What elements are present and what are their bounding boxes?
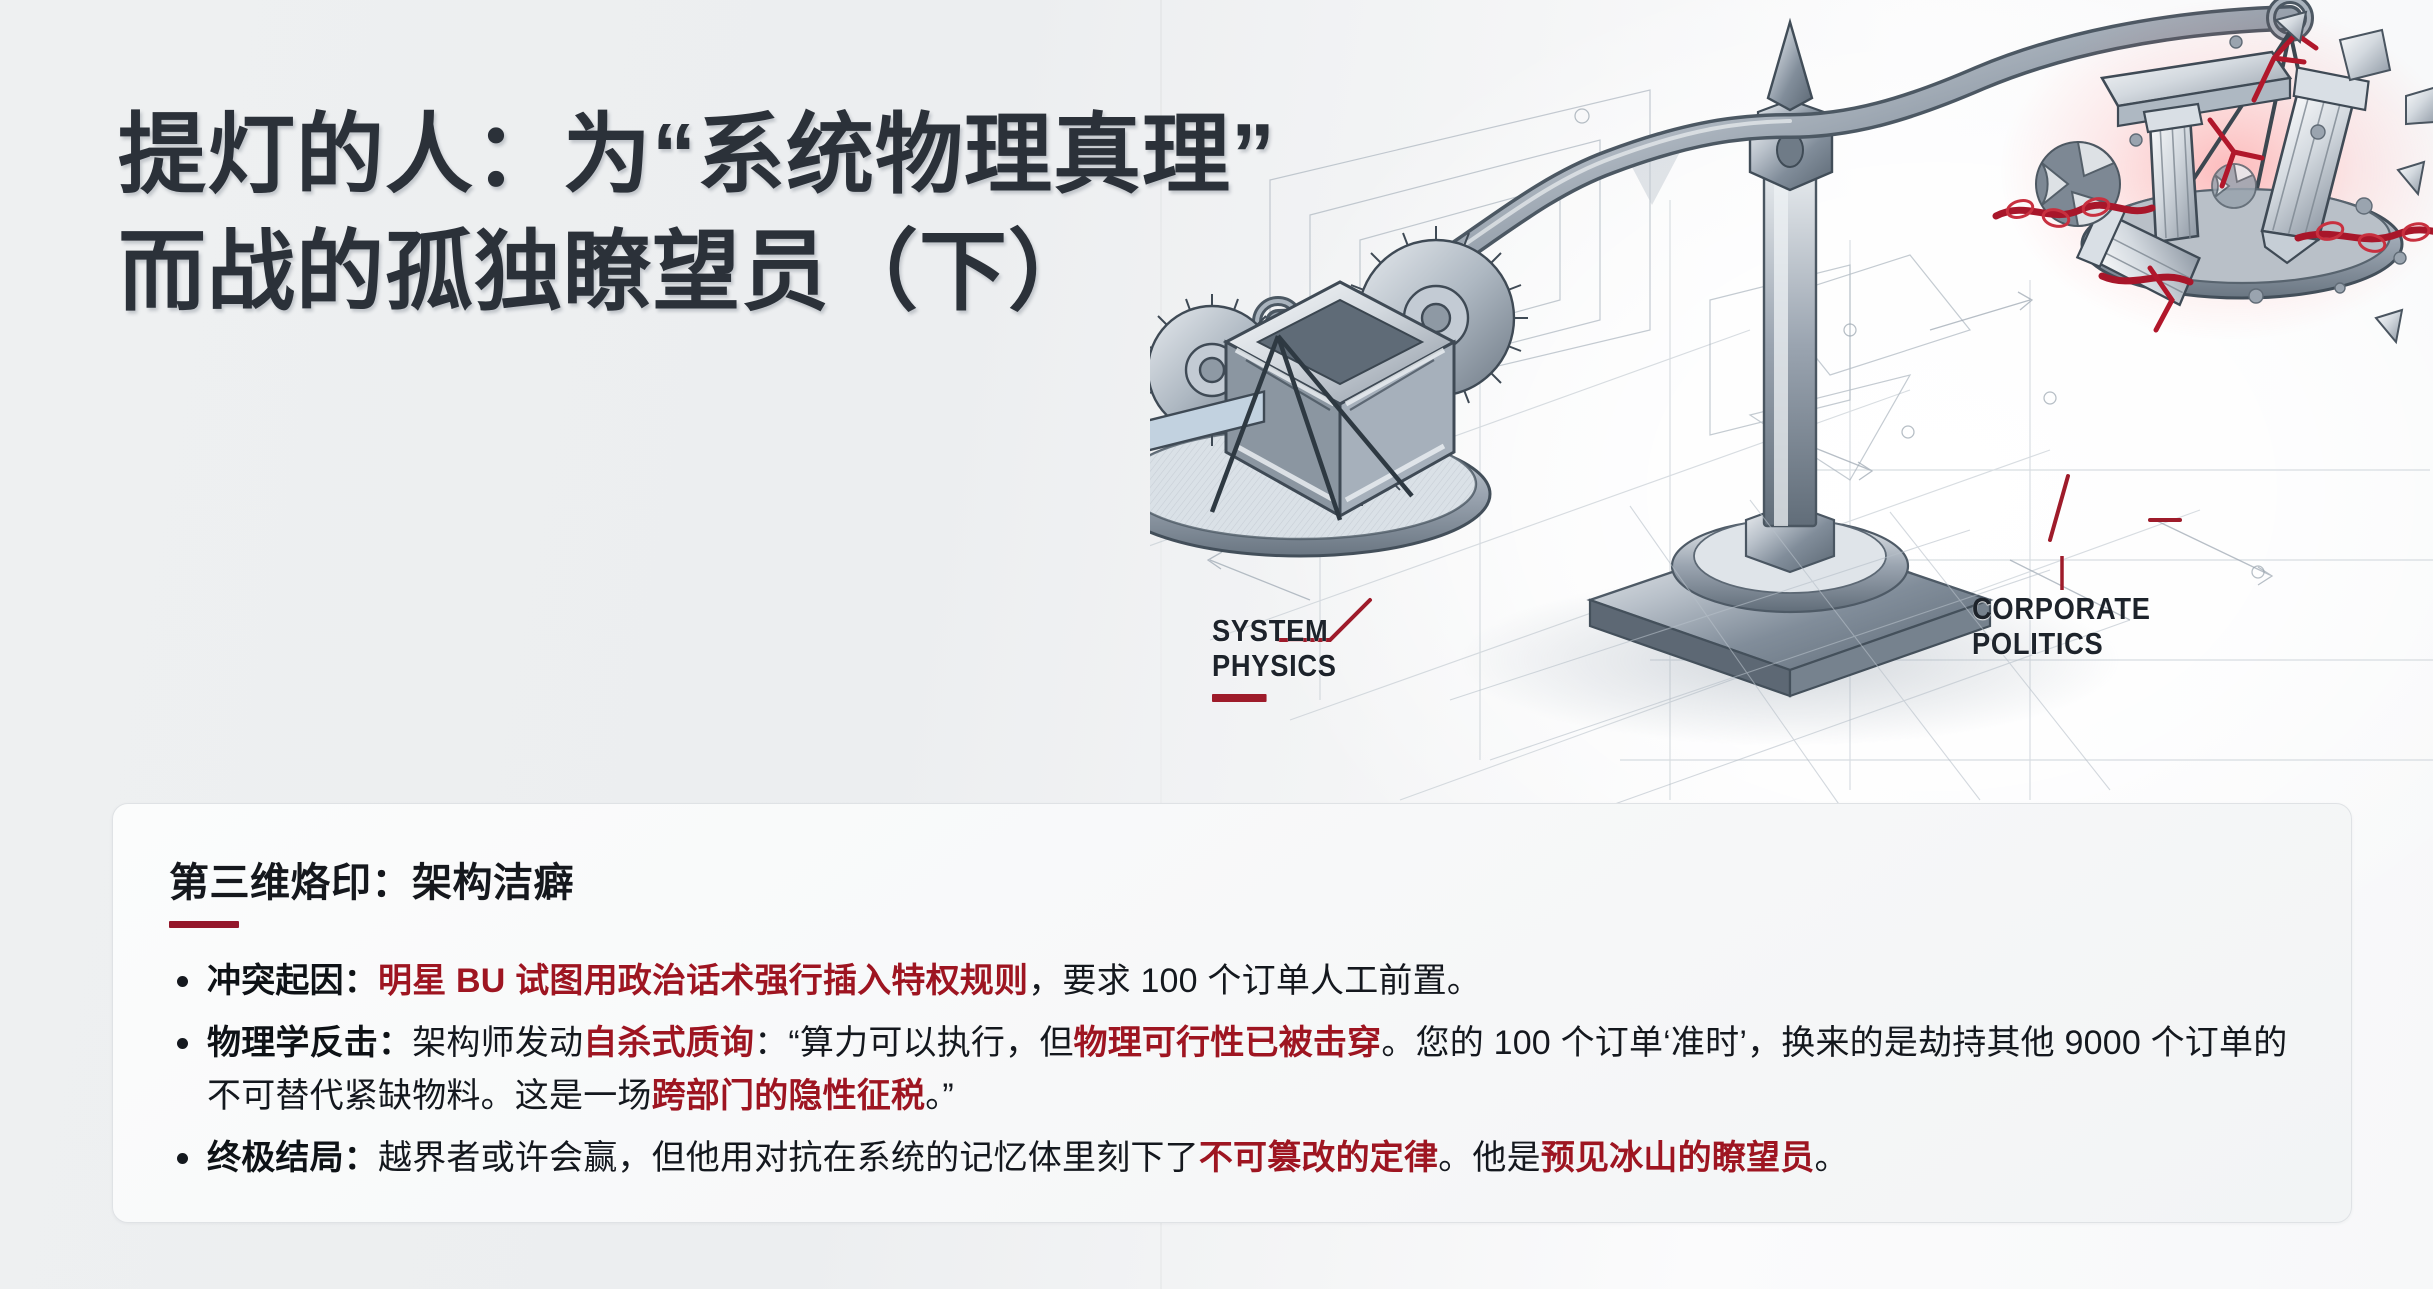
bullet-segment: 自杀式质询 bbox=[583, 1024, 754, 1062]
bullet-segment: 预见冰山的瞭望员 bbox=[1541, 1139, 1815, 1177]
bullet-segment: 明星 BU 试图用政治话术强行插入特权规则 bbox=[378, 962, 1028, 1000]
label-system-physics-line1: SYSTEM bbox=[1212, 614, 1337, 649]
bullet-segment: ，要求 100 个订单人工前置。 bbox=[1028, 962, 1481, 1000]
bullet-segment: 越界者或许会赢，但他用对抗在系统的记忆体里刻下了 bbox=[378, 1139, 1199, 1177]
bullet-segment: 冲突起因： bbox=[207, 962, 378, 1000]
bullet-physics-counterattack: 物理学反击：架构师发动自杀式质询：“算力可以执行，但物理可行性已被击穿。您的 1… bbox=[169, 1017, 2295, 1123]
scale-svg bbox=[1150, 0, 2433, 830]
content-card: 第三维烙印：架构洁癖 冲突起因：明星 BU 试图用政治话术强行插入特权规则，要求… bbox=[112, 803, 2352, 1223]
card-heading-accent-bar bbox=[169, 921, 239, 928]
page-title: 提灯的人：为“系统物理真理” 而战的孤独瞭望员（下） bbox=[118, 96, 1178, 330]
label-corporate-politics-line2: POLITICS bbox=[1972, 627, 2151, 662]
label-system-physics-line2: PHYSICS bbox=[1212, 649, 1337, 684]
card-heading: 第三维烙印：架构洁癖 bbox=[169, 850, 2295, 908]
label-corporate-politics-line1: CORPORATE bbox=[1972, 592, 2151, 627]
bullet-final-outcome: 终极结局：越界者或许会赢，但他用对抗在系统的记忆体里刻下了不可篡改的定律。他是预… bbox=[169, 1132, 2295, 1185]
aperture-icon-small bbox=[2212, 164, 2256, 208]
bullet-segment: 。” bbox=[925, 1077, 954, 1115]
bullet-segment: 。 bbox=[1814, 1139, 1848, 1177]
title-line-1: 提灯的人：为“系统物理真理” bbox=[118, 96, 1178, 213]
left-pan-system-physics bbox=[1150, 226, 1528, 556]
bullet-segment: 物理可行性已被击穿 bbox=[1074, 1024, 1382, 1062]
bullet-list: 冲突起因：明星 BU 试图用政治话术强行插入特权规则，要求 100 个订单人工前… bbox=[169, 955, 2295, 1185]
balance-scale-illustration bbox=[1150, 0, 2433, 830]
poster-root: 提灯的人：为“系统物理真理” 而战的孤独瞭望员（下） bbox=[0, 0, 2433, 1289]
bullet-segment: 终极结局： bbox=[207, 1139, 378, 1177]
bullet-segment: 不可篡改的定律 bbox=[1199, 1139, 1438, 1177]
label-system-physics: SYSTEM PHYSICS bbox=[1212, 614, 1337, 702]
bullet-segment: 架构师发动 bbox=[412, 1024, 583, 1062]
bullet-segment: 物理学反击： bbox=[207, 1024, 412, 1062]
bullet-segment: 跨部门的隐性征税 bbox=[652, 1077, 926, 1115]
title-line-2: 而战的孤独瞭望员（下） bbox=[118, 213, 1178, 330]
bullet-segment: 。他是 bbox=[1438, 1139, 1541, 1177]
bullet-segment: ：“算力可以执行，但 bbox=[754, 1024, 1073, 1062]
label-system-physics-bar bbox=[1212, 694, 1267, 702]
bullet-conflict-cause: 冲突起因：明星 BU 试图用政治话术强行插入特权规则，要求 100 个订单人工前… bbox=[169, 955, 2295, 1008]
label-corporate-politics: CORPORATE POLITICS bbox=[1972, 592, 2151, 661]
